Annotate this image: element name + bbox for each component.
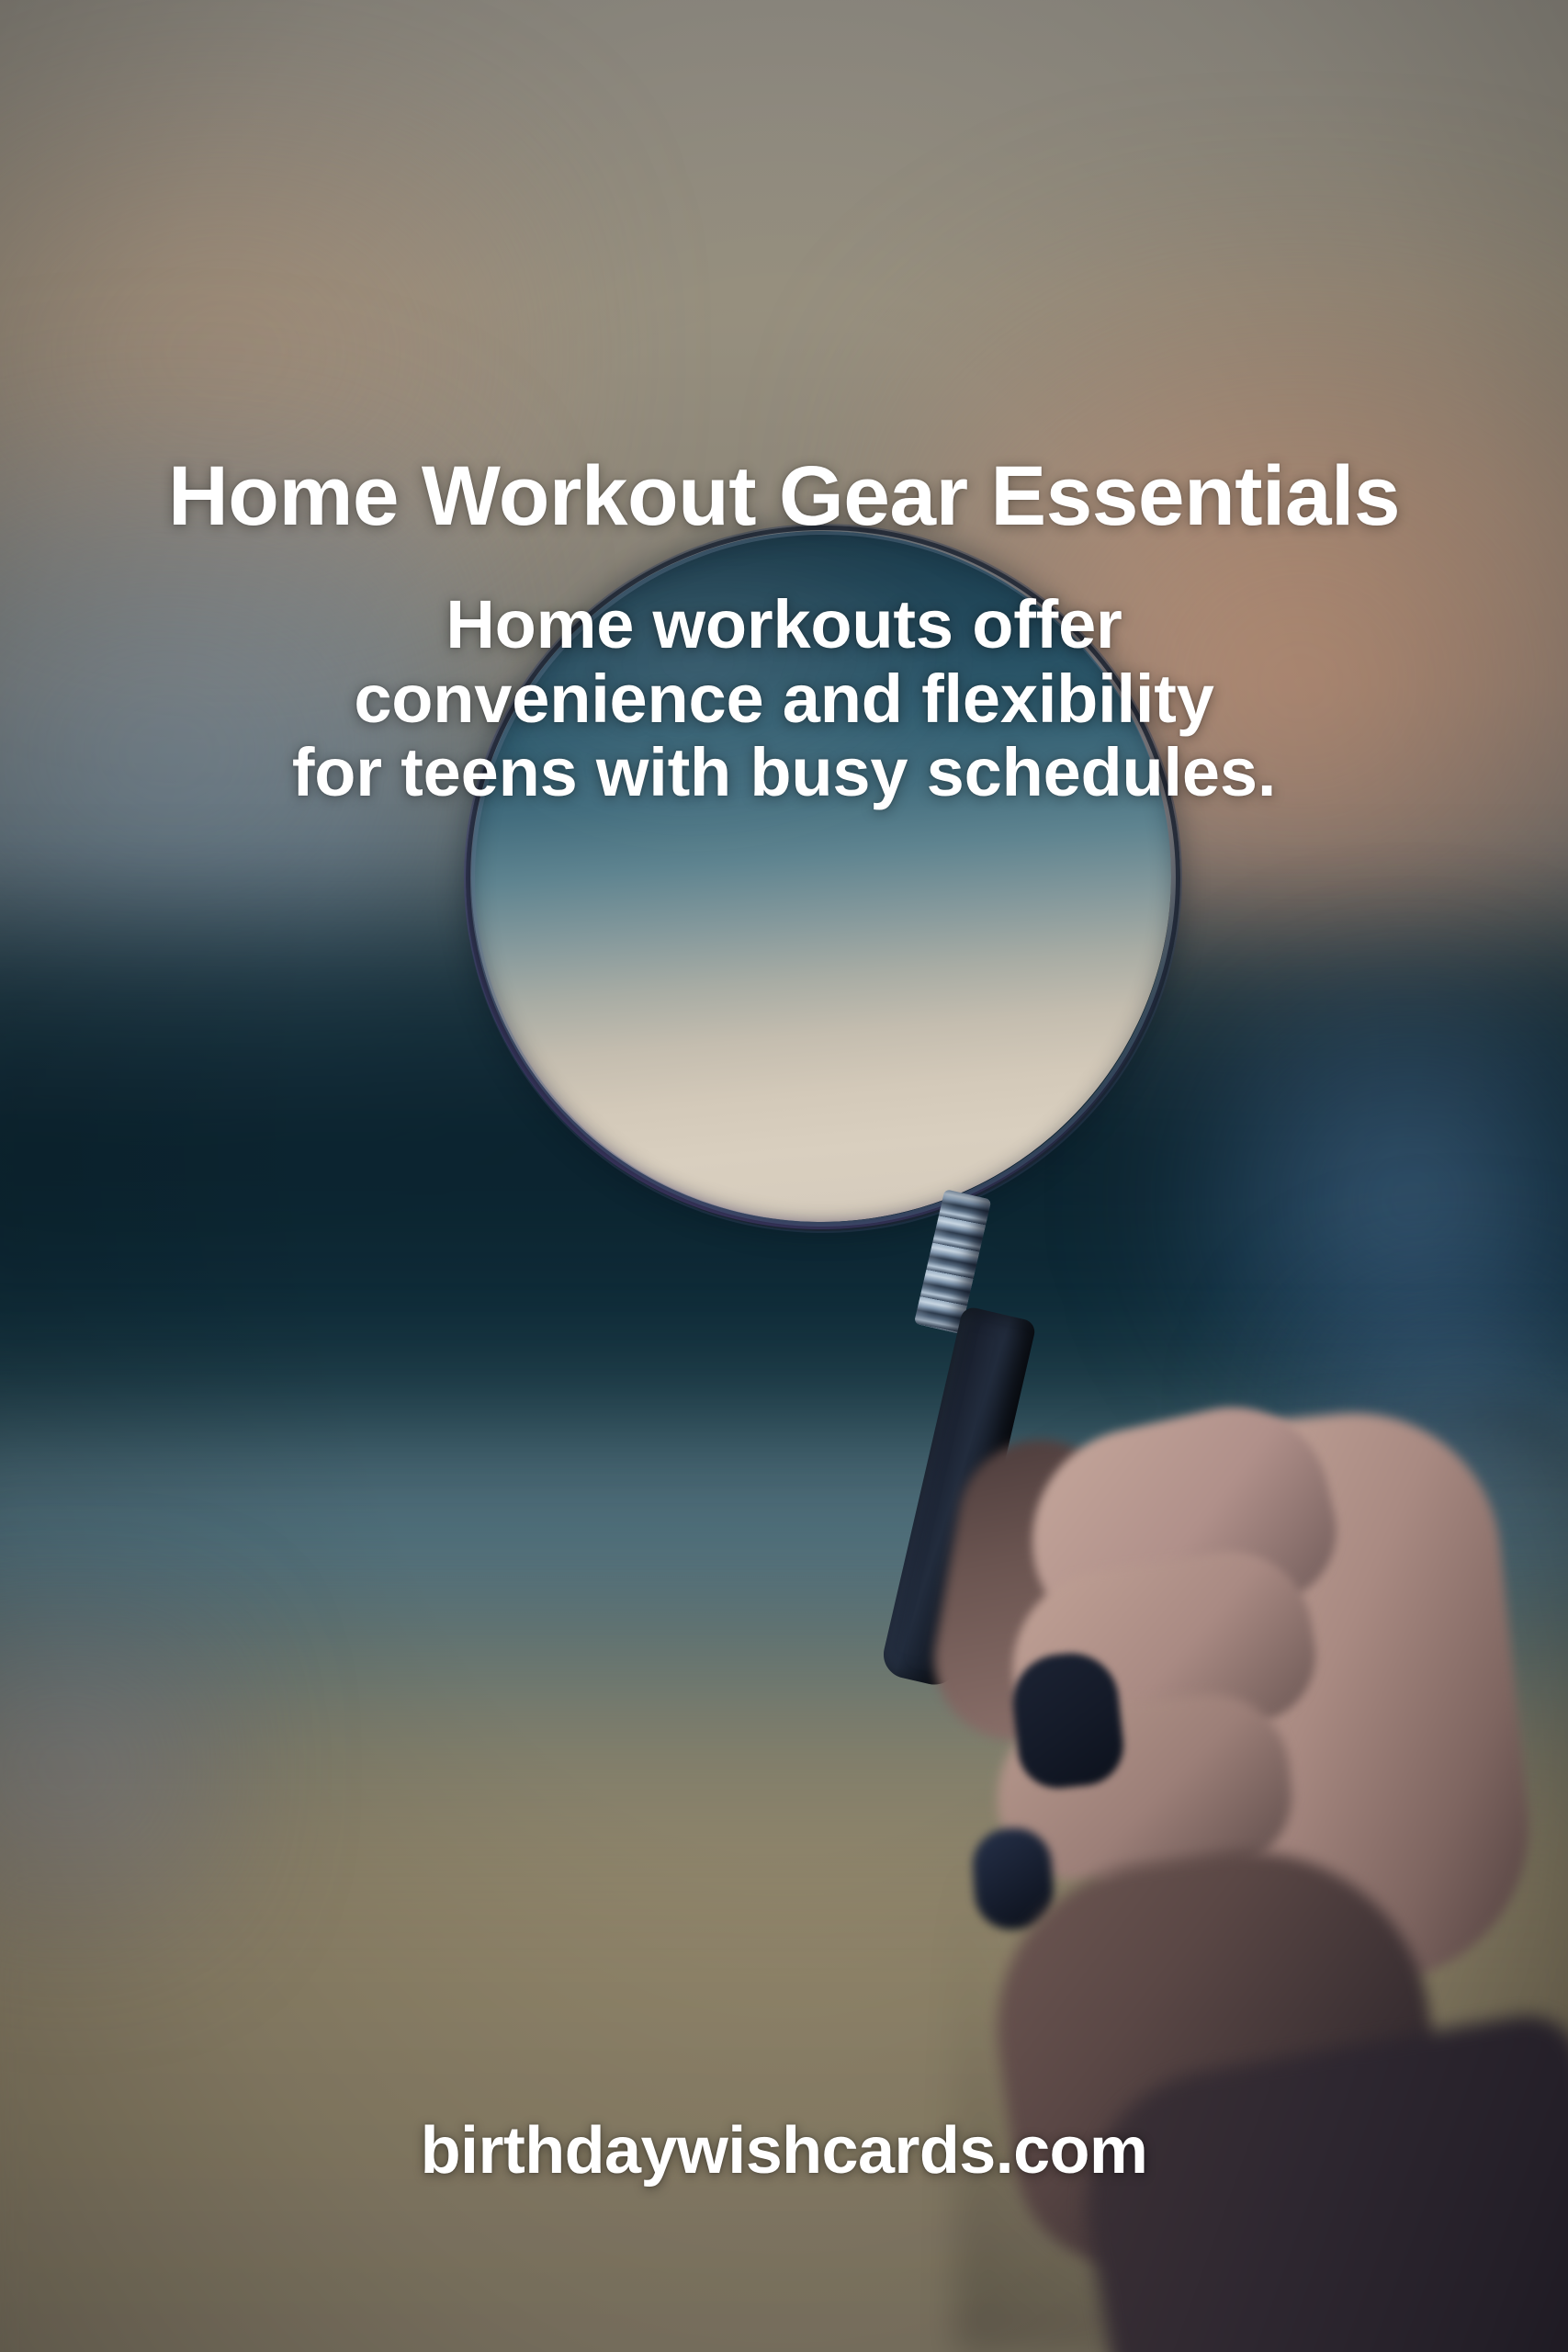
pin-title: Home Workout Gear Essentials: [8, 454, 1561, 538]
subtitle-line-1: Home workouts offer: [83, 588, 1485, 662]
website-url[interactable]: birthdaywishcards.com: [0, 2118, 1568, 2184]
text-overlay: Home Workout Gear Essentials Home workou…: [0, 0, 1568, 2352]
pin-subtitle: Home workouts offer convenience and flex…: [0, 588, 1568, 810]
pinterest-pin-card: Home Workout Gear Essentials Home workou…: [0, 0, 1568, 2352]
subtitle-line-2: convenience and flexibility: [83, 662, 1485, 737]
subtitle-line-3: for teens with busy schedules.: [83, 736, 1485, 810]
